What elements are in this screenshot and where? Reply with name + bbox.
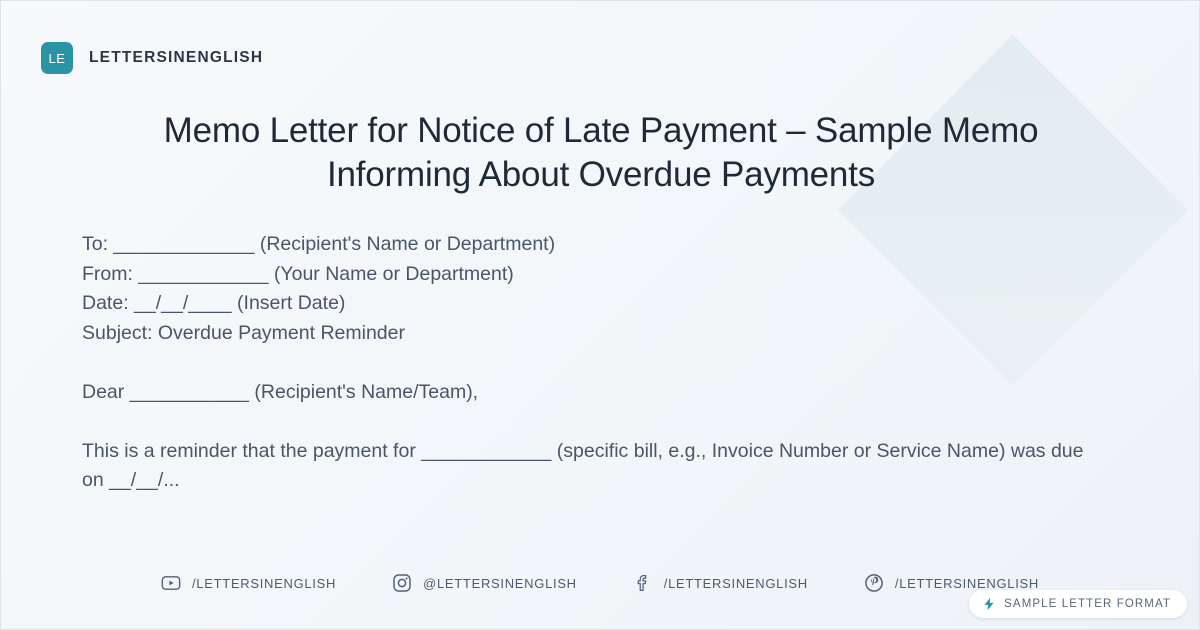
letter-line-from: From: ____________ (Your Name or Departm… — [82, 260, 1092, 290]
page-title: Memo Letter for Notice of Late Payment –… — [101, 109, 1101, 197]
letter-salutation: Dear ___________ (Recipient's Name/Team)… — [82, 378, 1092, 408]
letter-spacer — [82, 407, 1092, 437]
social-label-youtube: /LETTERSINENGLISH — [192, 576, 336, 591]
letter-spacer — [82, 348, 1092, 378]
lightning-bolt-icon — [982, 597, 996, 611]
social-link-instagram[interactable]: @LETTERSINENGLISH — [392, 573, 577, 593]
badge-label: SAMPLE LETTER FORMAT — [1004, 598, 1171, 610]
letter-paragraph: This is a reminder that the payment for … — [82, 437, 1092, 496]
youtube-icon — [161, 573, 181, 593]
letter-line-date: Date: __/__/____ (Insert Date) — [82, 289, 1092, 319]
brand-logo: LE LETTERSINENGLISH — [41, 42, 263, 74]
social-link-youtube[interactable]: /LETTERSINENGLISH — [161, 573, 336, 593]
letter-body: To: _____________ (Recipient's Name or D… — [82, 230, 1092, 496]
facebook-icon — [633, 573, 653, 593]
instagram-icon — [392, 573, 412, 593]
poster-canvas: LE LETTERSINENGLISH Memo Letter for Noti… — [0, 0, 1200, 630]
letter-line-subject: Subject: Overdue Payment Reminder — [82, 319, 1092, 349]
brand-mark-icon: LE — [41, 42, 73, 74]
sample-letter-format-badge[interactable]: SAMPLE LETTER FORMAT — [969, 590, 1187, 618]
social-label-pinterest: /LETTERSINENGLISH — [895, 576, 1039, 591]
letter-line-to: To: _____________ (Recipient's Name or D… — [82, 230, 1092, 260]
brand-name: LETTERSINENGLISH — [89, 49, 263, 67]
social-link-facebook[interactable]: /LETTERSINENGLISH — [633, 573, 808, 593]
social-label-facebook: /LETTERSINENGLISH — [664, 576, 808, 591]
pinterest-icon — [864, 573, 884, 593]
social-label-instagram: @LETTERSINENGLISH — [423, 576, 577, 591]
